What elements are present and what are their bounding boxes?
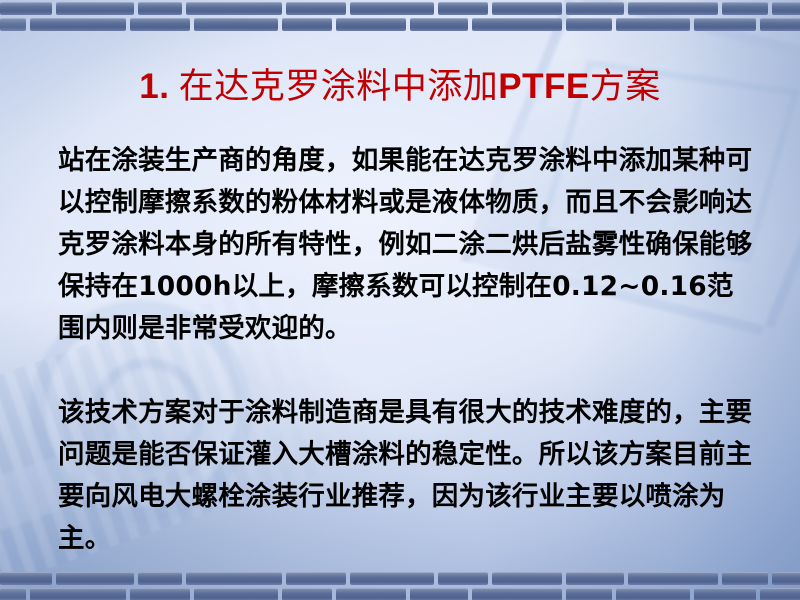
brick xyxy=(628,572,718,585)
brick xyxy=(722,572,768,585)
brick xyxy=(130,18,190,31)
brick xyxy=(56,572,134,585)
brick xyxy=(336,18,406,31)
body-paragraph-2: 该技术方案对于涂料制造商是具有很大的技术难度的，主要问题是能否保证灌入大槽涂料的… xyxy=(58,392,758,560)
brick xyxy=(286,572,346,585)
brick xyxy=(694,588,756,600)
brick xyxy=(0,572,52,585)
brick-row xyxy=(0,2,800,15)
brick xyxy=(194,18,278,31)
bottom-brick-border xyxy=(0,569,800,600)
brick xyxy=(286,2,346,15)
brick-row xyxy=(0,572,800,585)
brick xyxy=(186,572,282,585)
title-text-before: 在达克罗涂料中添加 xyxy=(169,67,498,106)
brick xyxy=(772,2,800,15)
brick xyxy=(760,588,800,600)
body-paragraph-1: 站在涂装生产商的角度，如果能在达克罗涂料中添加某种可以控制摩擦系数的粉体材料或是… xyxy=(58,140,758,350)
brick xyxy=(350,2,434,15)
brick xyxy=(566,2,624,15)
brick xyxy=(694,18,756,31)
brick xyxy=(138,2,182,15)
title-number: 1. xyxy=(139,67,169,106)
brick xyxy=(492,2,562,15)
brick xyxy=(130,588,190,600)
brick xyxy=(336,588,406,600)
brick xyxy=(410,588,468,600)
presentation-slide: 1. 在达克罗涂料中添加PTFE方案 站在涂装生产商的角度，如果能在达克罗涂料中… xyxy=(0,0,800,600)
slide-body: 站在涂装生产商的角度，如果能在达克罗涂料中添加某种可以控制摩擦系数的粉体材料或是… xyxy=(58,140,758,560)
brick xyxy=(282,588,332,600)
brick xyxy=(350,572,434,585)
brick xyxy=(186,2,282,15)
title-latin-term: PTFE xyxy=(498,67,589,106)
page-title: 1. 在达克罗涂料中添加PTFE方案 xyxy=(0,66,800,108)
brick xyxy=(492,572,562,585)
brick xyxy=(722,2,768,15)
brick-row xyxy=(0,18,800,31)
brick xyxy=(0,18,26,31)
brick xyxy=(566,588,612,600)
brick xyxy=(566,18,612,31)
brick xyxy=(0,2,52,15)
brick xyxy=(760,18,800,31)
brick xyxy=(566,572,624,585)
brick xyxy=(438,572,488,585)
brick xyxy=(30,18,126,31)
brick xyxy=(194,588,278,600)
brick xyxy=(56,2,134,15)
brick xyxy=(282,18,332,31)
brick xyxy=(472,18,562,31)
title-text-after: 方案 xyxy=(590,67,661,106)
brick xyxy=(616,588,690,600)
brick xyxy=(30,588,126,600)
brick xyxy=(138,572,182,585)
brick-row xyxy=(0,588,800,600)
brick xyxy=(616,18,690,31)
brick xyxy=(0,588,26,600)
brick xyxy=(410,18,468,31)
top-brick-border xyxy=(0,0,800,31)
brick xyxy=(772,572,800,585)
brick xyxy=(472,588,562,600)
brick xyxy=(438,2,488,15)
brick xyxy=(628,2,718,15)
